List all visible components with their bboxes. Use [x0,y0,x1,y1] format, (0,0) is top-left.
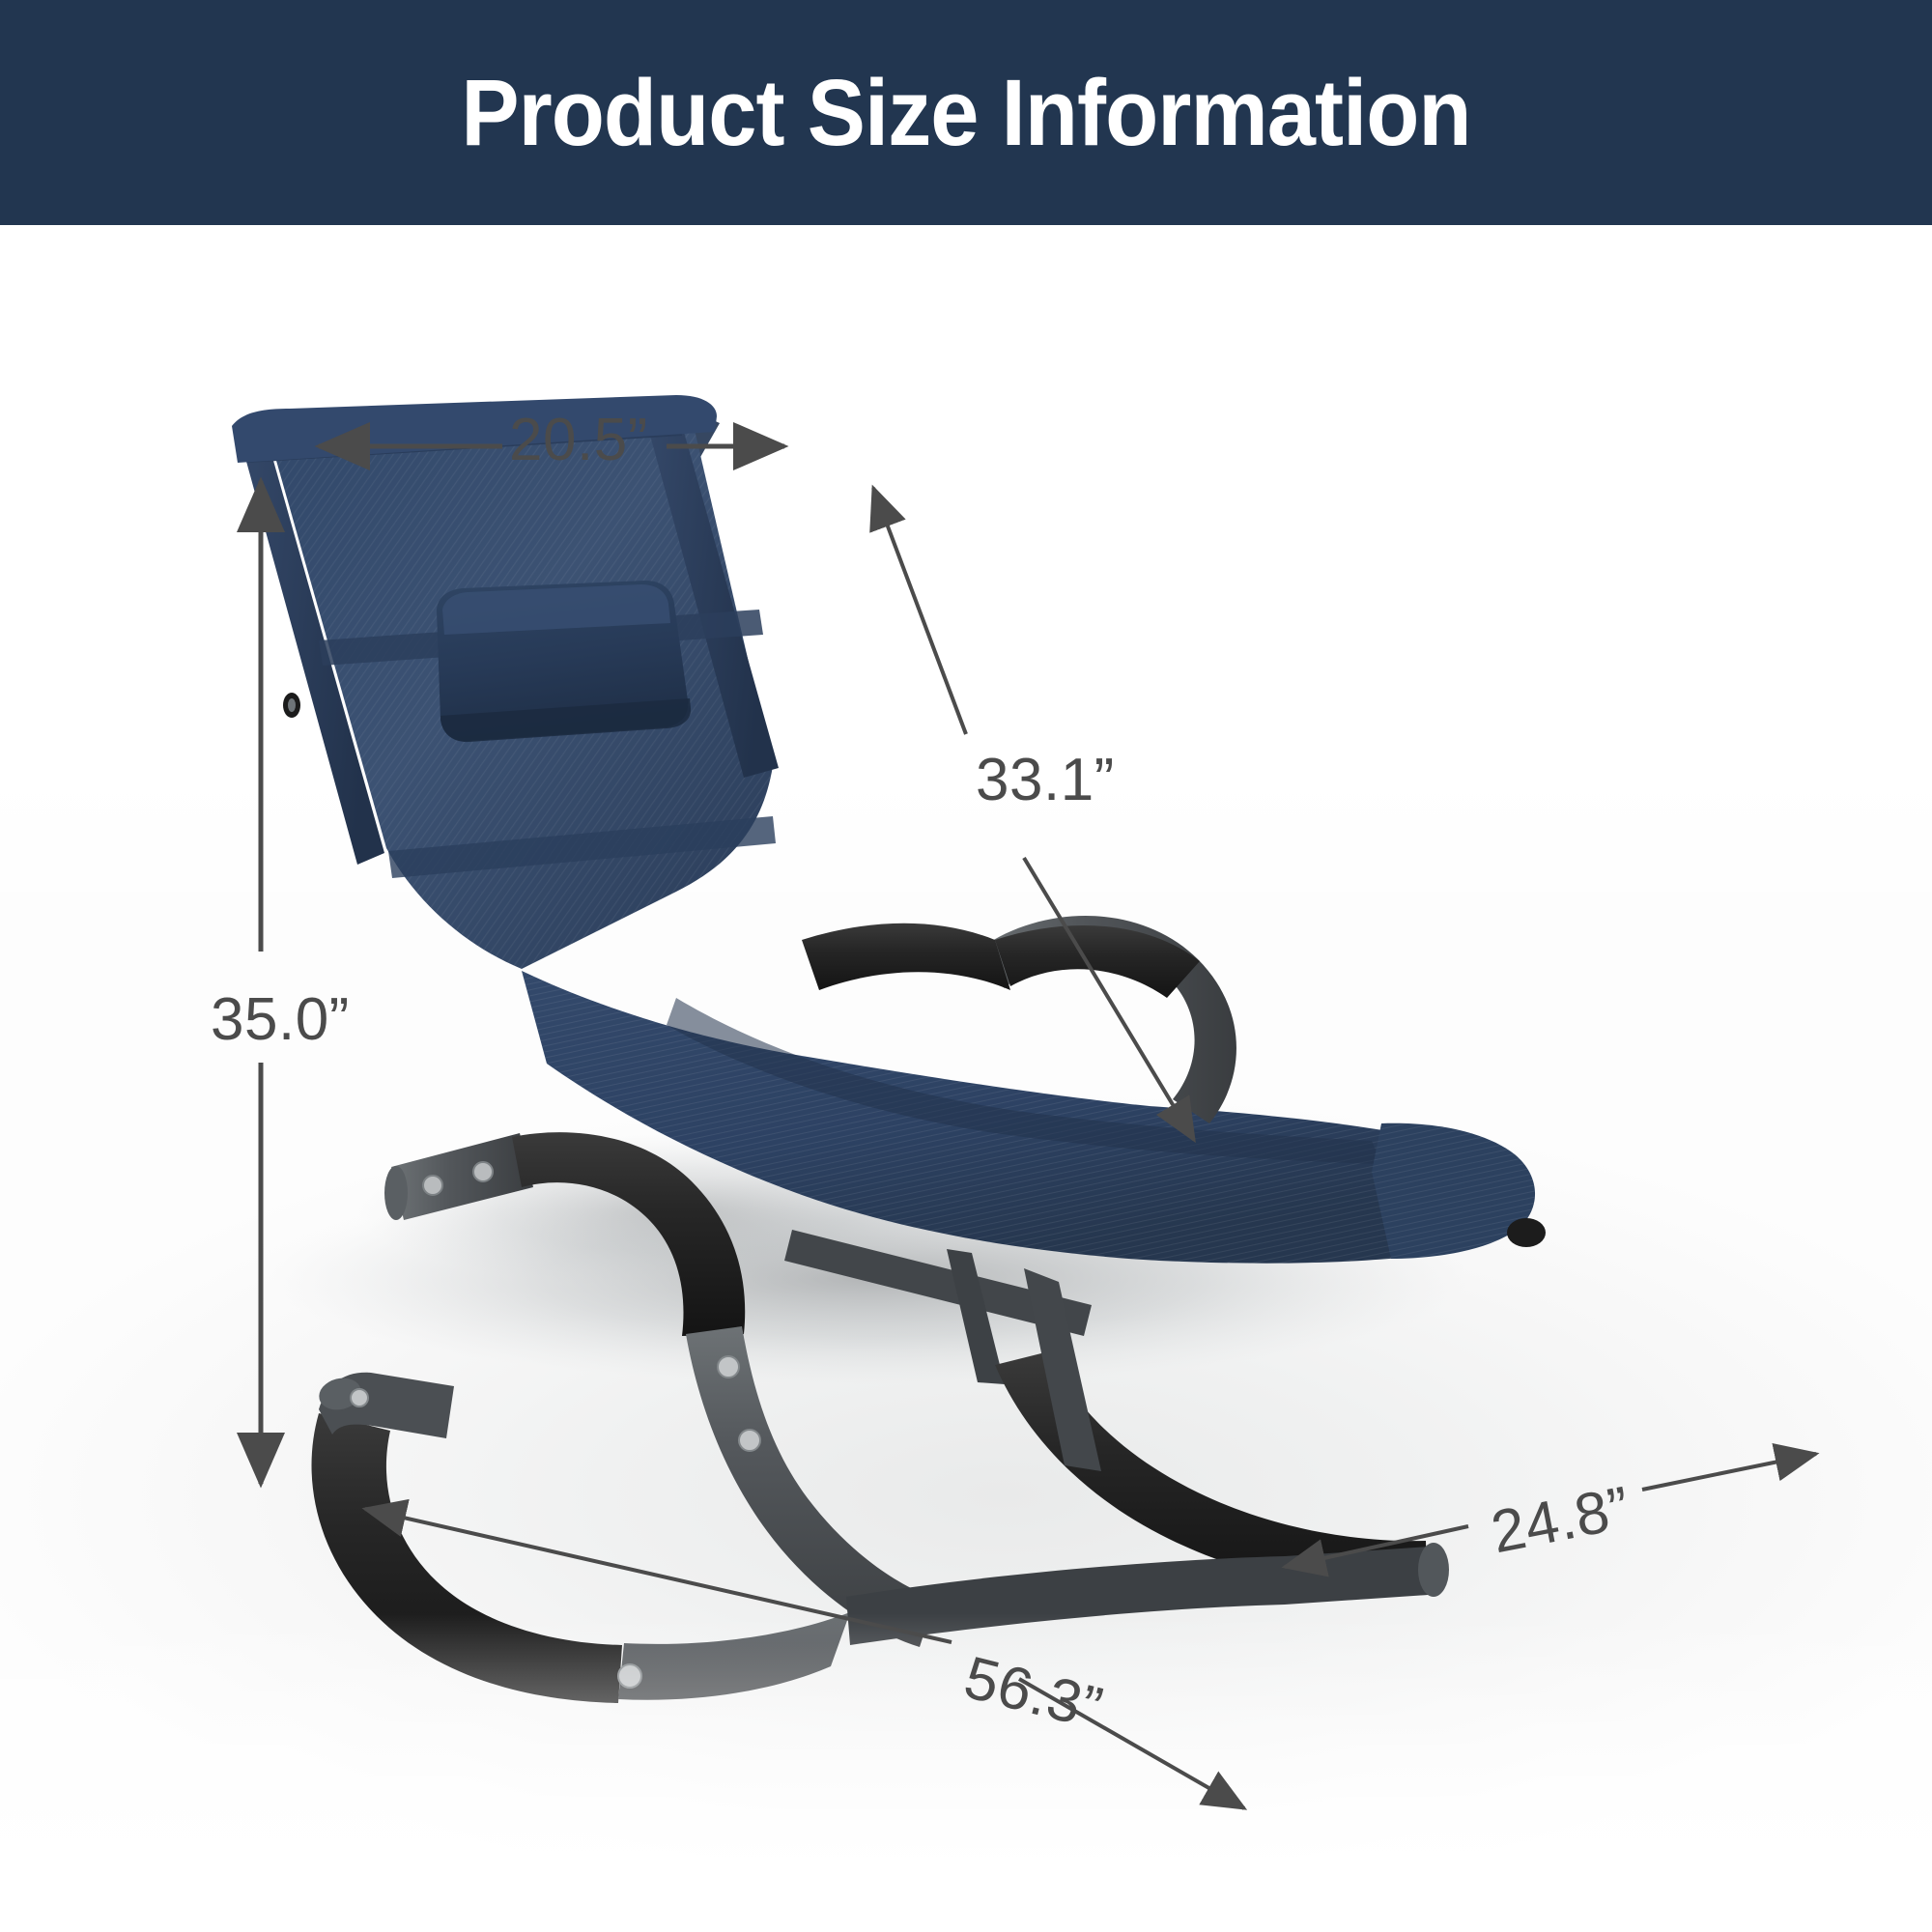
dimension-label-width: 20.5” [509,406,648,474]
product-size-information-page: Product Size Information [0,0,1932,1932]
backrest-eyelet-hole [288,698,296,712]
armrest-far-foam-b [995,925,1200,998]
page-title: Product Size Information [461,66,1470,159]
dimension-label-back-length: 33.1” [976,746,1115,814]
dimension-label-height: 35.0” [211,985,350,1054]
armrest-screw-1 [423,1176,442,1195]
header-banner: Product Size Information [0,0,1932,225]
armrest-joint-screw-1 [718,1356,739,1378]
rocker-end-cap-far [1418,1543,1449,1597]
armrest-bracket-cap [384,1166,408,1220]
footrest-end-cap [1507,1218,1546,1247]
armrest-screw-2 [473,1162,493,1181]
armrest-joint-screw-2 [739,1430,760,1451]
floor-vignette [0,1613,1932,1932]
rocker-screw-near [351,1389,368,1406]
armrest-far-foam [802,923,1010,990]
